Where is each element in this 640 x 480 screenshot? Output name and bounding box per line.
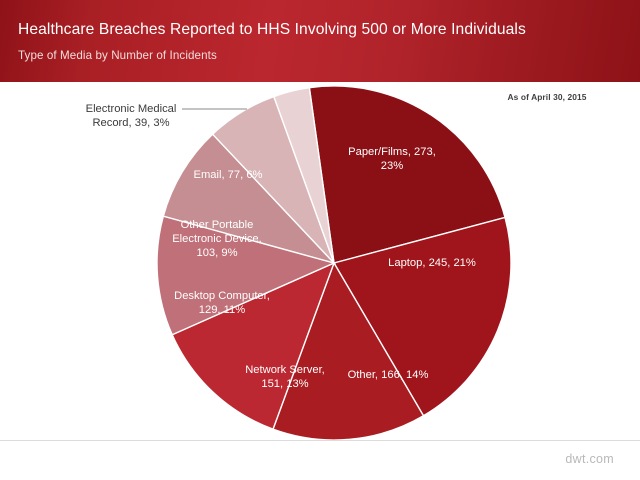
pie-label-other: Other, 166, 14% xyxy=(348,369,429,381)
pie-chart-svg: Paper/Films, 273,23%Laptop, 245, 21%Othe… xyxy=(0,82,640,480)
page-subtitle: Type of Media by Number of Incidents xyxy=(18,49,217,62)
pie-chart: Paper/Films, 273,23%Laptop, 245, 21%Othe… xyxy=(0,82,640,480)
header-banner: Healthcare Breaches Reported to HHS Invo… xyxy=(0,0,640,82)
page-title: Healthcare Breaches Reported to HHS Invo… xyxy=(18,21,526,39)
pie-label-laptop: Laptop, 245, 21% xyxy=(388,257,476,269)
chart-canvas: As of April 30, 2015 Paper/Films, 273,23… xyxy=(0,82,640,480)
pie-label-electronic-medical-record: Electronic MedicalRecord, 39, 3% xyxy=(86,103,177,129)
footer-divider xyxy=(0,440,640,441)
footer-brand: dwt.com xyxy=(565,452,614,466)
pie-label-email: Email, 77, 6% xyxy=(193,169,262,181)
